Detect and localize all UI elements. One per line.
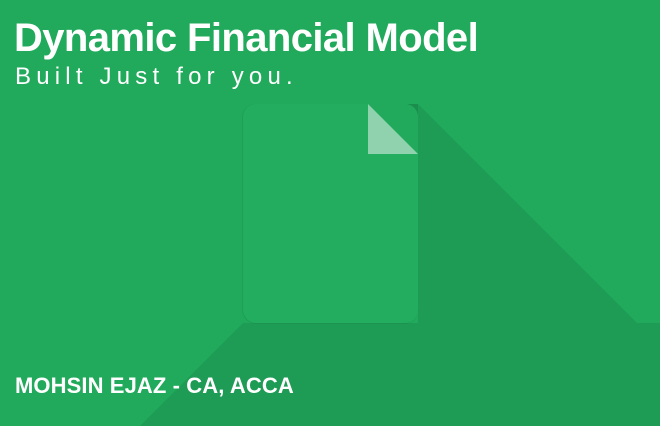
long-shadow-upper bbox=[418, 104, 660, 426]
page-title: Dynamic Financial Model bbox=[14, 17, 478, 59]
promo-banner: Dynamic Financial Model Built Just for y… bbox=[0, 0, 660, 426]
author-byline: MOHSIN EJAZ - CA, ACCA bbox=[15, 374, 294, 398]
document-icon bbox=[243, 104, 418, 323]
page-subtitle: Built Just for you. bbox=[15, 64, 298, 90]
